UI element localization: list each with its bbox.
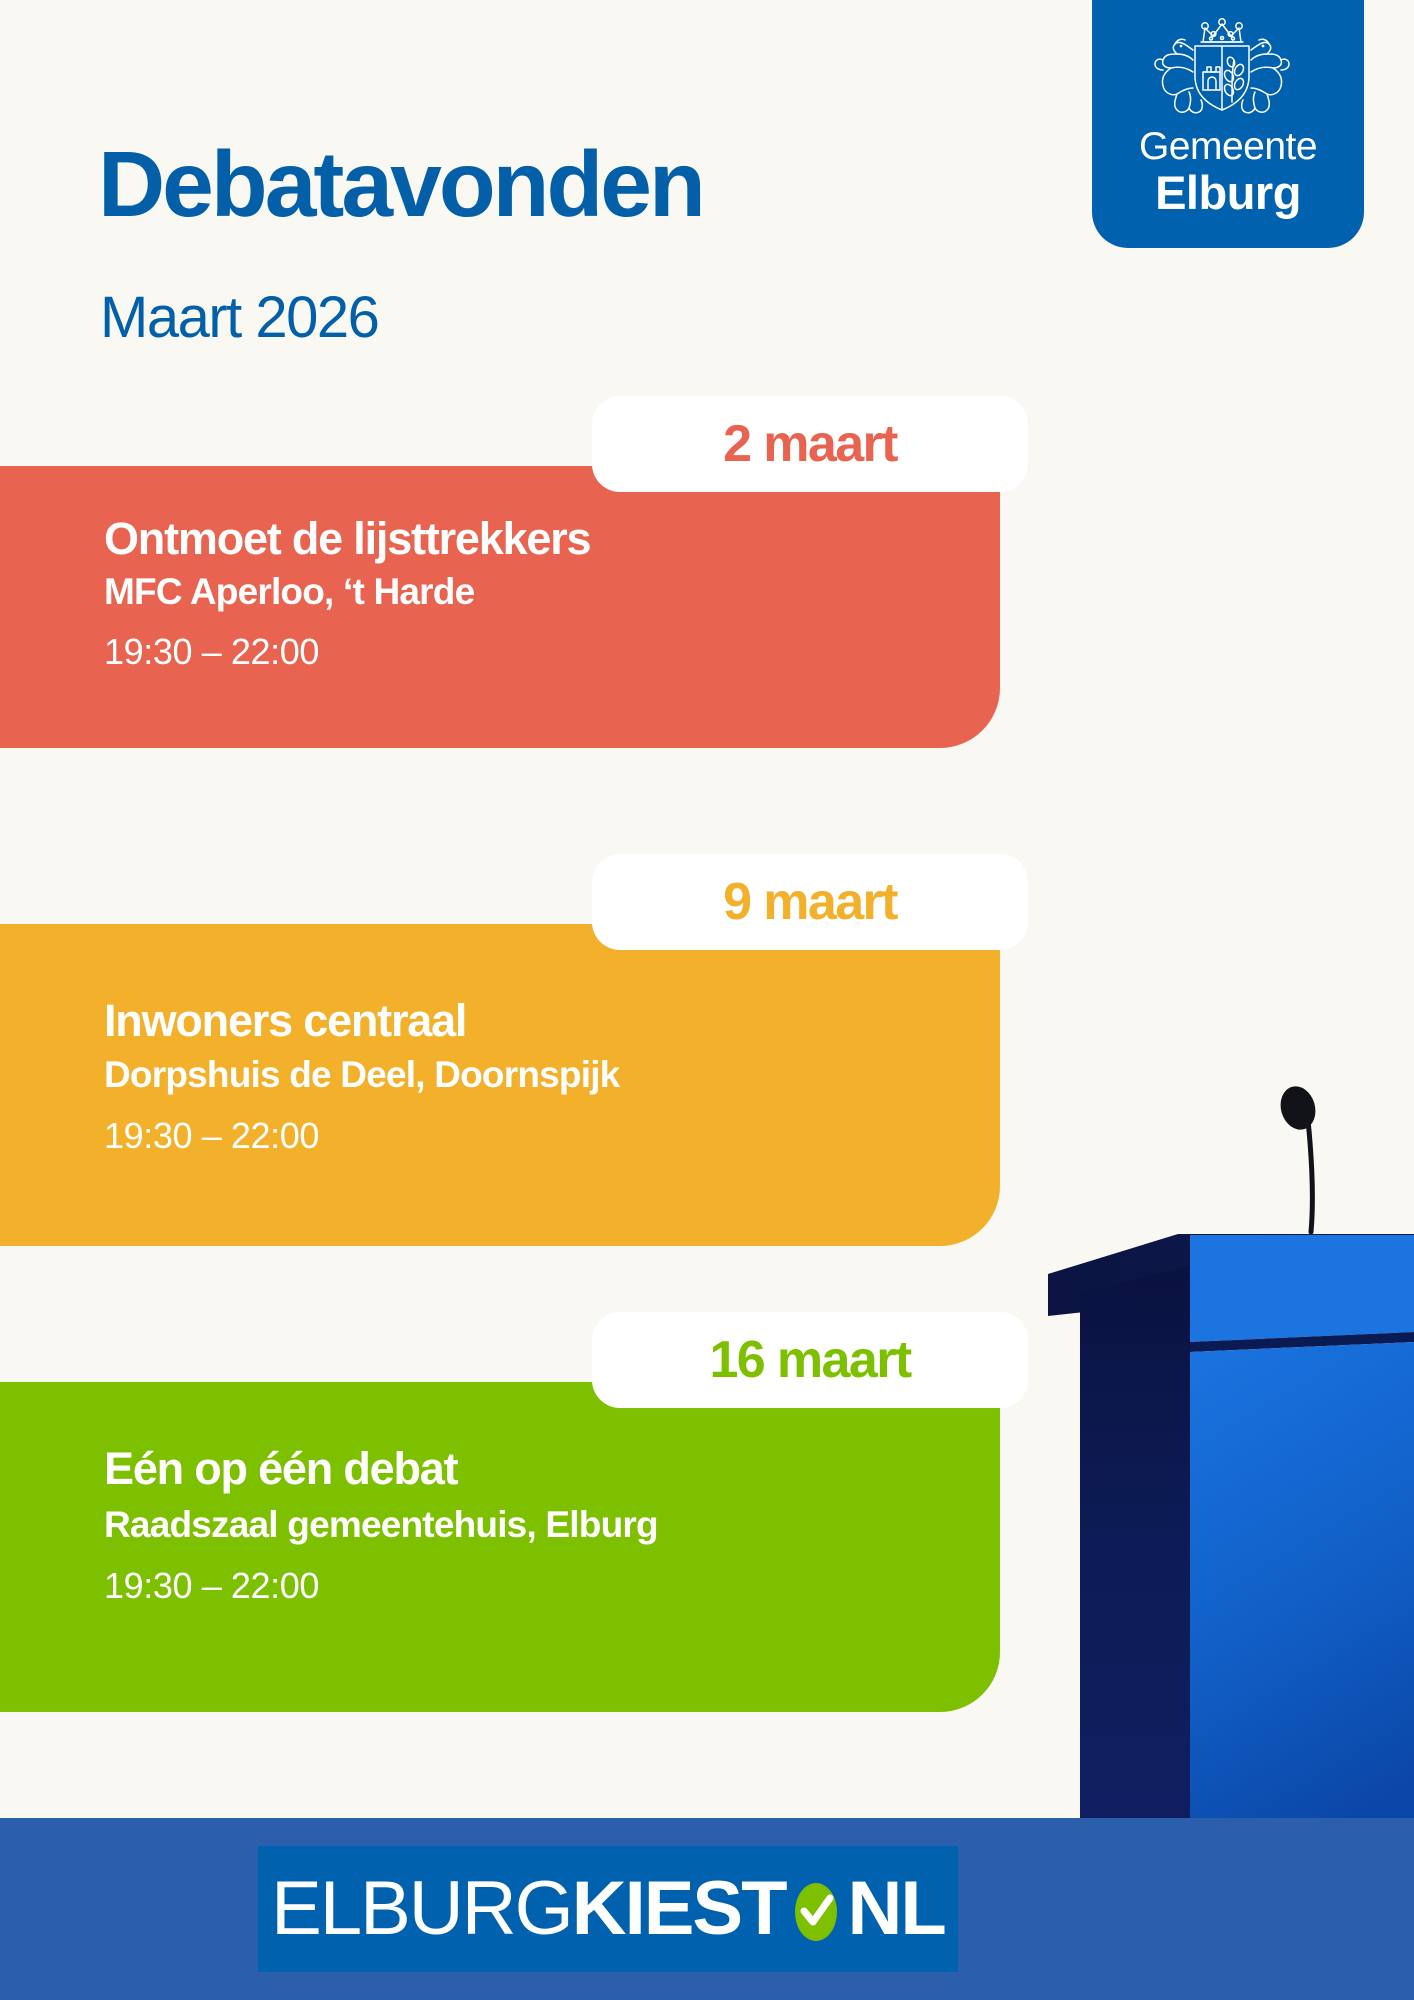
event-venue-3: Raadszaal gemeentehuis, Elburg <box>104 1504 658 1546</box>
elburgkiest-wordmark: ELBURGKIEST NL <box>271 1871 945 1947</box>
wordmark-elburg: ELBURG <box>271 1871 572 1947</box>
event-card-3: Eén op één debat Raadszaal gemeentehuis,… <box>0 1382 1000 1712</box>
elburgkiest-logo[interactable]: ELBURGKIEST NL <box>258 1846 958 1972</box>
event-card-1: Ontmoet de lijsttrekkers MFC Aperloo, ‘t… <box>0 466 1000 748</box>
page-subtitle: Maart 2026 <box>100 288 378 348</box>
event-card-2: Inwoners centraal Dorpshuis de Deel, Doo… <box>0 924 1000 1246</box>
event-time-1: 19:30 – 22:00 <box>104 632 319 672</box>
wordmark-kiest: KIEST <box>572 1871 786 1947</box>
event-title-2: Inwoners centraal <box>104 996 466 1046</box>
event-title-3: Eén op één debat <box>104 1444 457 1494</box>
green-check-circle-icon <box>790 1881 842 1943</box>
podium-with-microphone-illustration <box>1030 1080 1414 1910</box>
date-badge-2: 9 maart <box>592 854 1028 950</box>
date-badge-1: 2 maart <box>592 396 1028 492</box>
logo-text-elburg: Elburg <box>1155 168 1301 218</box>
logo-text-gemeente: Gemeente <box>1139 126 1317 168</box>
gemeente-elburg-logo: Gemeente Elburg <box>1092 0 1364 248</box>
coat-of-arms-icon <box>1133 14 1323 126</box>
footer-band: ELBURGKIEST NL <box>0 1818 1414 2000</box>
event-venue-2: Dorpshuis de Deel, Doornspijk <box>104 1054 619 1096</box>
microphone-icon <box>1276 1082 1321 1232</box>
page-title: Debatavonden <box>98 136 703 232</box>
event-time-2: 19:30 – 22:00 <box>104 1116 319 1156</box>
event-title-1: Ontmoet de lijsttrekkers <box>104 514 590 564</box>
date-badge-3: 16 maart <box>592 1312 1028 1408</box>
event-time-3: 19:30 – 22:00 <box>104 1566 319 1606</box>
event-venue-1: MFC Aperloo, ‘t Harde <box>104 571 474 613</box>
wordmark-nl: NL <box>848 1871 945 1947</box>
